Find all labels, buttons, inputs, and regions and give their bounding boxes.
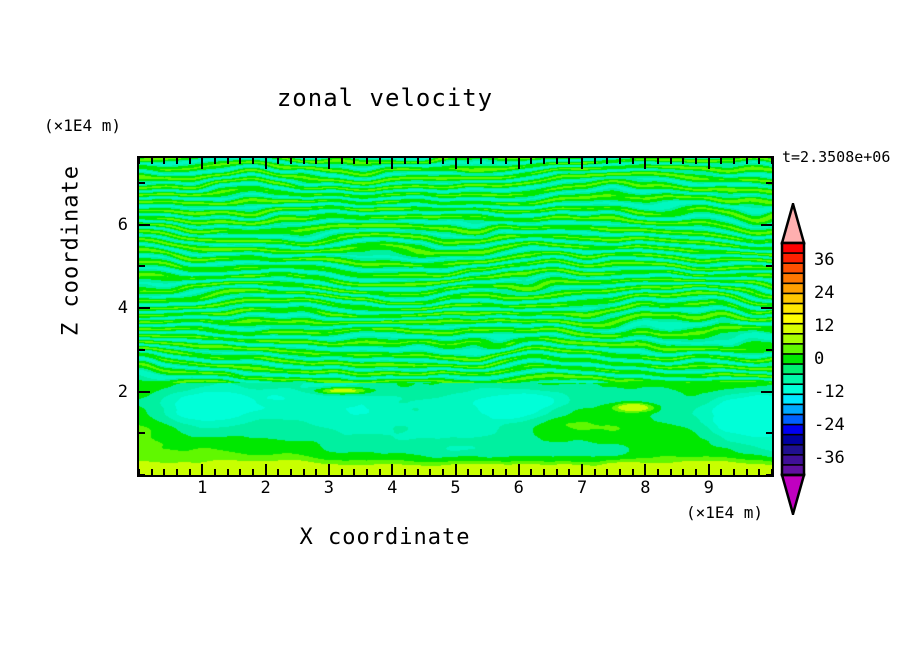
y-tick — [139, 349, 145, 351]
colorbar-tick-label: -12 — [814, 382, 845, 402]
colorbar-band — [782, 374, 804, 385]
colorbar-tick-label: 12 — [814, 316, 834, 336]
colorbar-band — [782, 404, 804, 415]
x-tick — [670, 469, 672, 475]
x-tick — [543, 469, 545, 475]
x-tick — [429, 469, 431, 475]
x-tick-top — [366, 158, 368, 164]
x-tick — [657, 469, 659, 475]
x-tick-top — [530, 158, 532, 164]
x-tick — [366, 469, 368, 475]
x-tick-top — [644, 158, 646, 169]
x-tick-top — [632, 158, 634, 164]
x-tick-top — [429, 158, 431, 164]
colorbar-band — [782, 324, 804, 335]
x-tick-top — [176, 158, 178, 164]
x-tick-top — [277, 158, 279, 164]
x-tick-label: 5 — [441, 478, 471, 498]
y-tick-right — [761, 307, 772, 309]
x-tick-top — [455, 158, 457, 169]
x-tick — [695, 469, 697, 475]
colorbar-band — [782, 293, 804, 304]
y-tick-label: 4 — [98, 298, 128, 318]
x-tick — [632, 469, 634, 475]
x-tick — [290, 469, 292, 475]
colorbar-band — [782, 344, 804, 355]
x-tick — [227, 469, 229, 475]
x-tick — [758, 469, 760, 475]
colorbar[interactable] — [777, 203, 811, 515]
x-tick-top — [189, 158, 191, 164]
y-tick-right — [761, 391, 772, 393]
x-tick — [315, 469, 317, 475]
x-tick-top — [720, 158, 722, 164]
colorbar-over-arrow — [782, 204, 804, 243]
y-tick-right — [766, 182, 772, 184]
x-tick — [644, 464, 646, 475]
x-tick-top — [417, 158, 419, 164]
x-tick — [252, 469, 254, 475]
x-tick-top — [227, 158, 229, 164]
colorbar-band — [782, 253, 804, 264]
x-tick — [594, 469, 596, 475]
colorbar-band — [782, 394, 804, 405]
x-tick-top — [214, 158, 216, 164]
x-tick-top — [670, 158, 672, 164]
x-tick — [581, 464, 583, 475]
x-tick — [467, 469, 469, 475]
x-axis-unit-label: (×1E4 m) — [686, 503, 763, 522]
x-tick — [353, 469, 355, 475]
x-tick-top — [708, 158, 710, 169]
colorbar-band — [782, 314, 804, 325]
x-tick — [708, 464, 710, 475]
x-tick-top — [138, 158, 140, 164]
colorbar-band — [782, 445, 804, 456]
x-tick-top — [328, 158, 330, 169]
page-title: zonal velocity — [0, 84, 770, 112]
x-tick — [455, 464, 457, 475]
x-tick — [404, 469, 406, 475]
x-tick — [606, 469, 608, 475]
x-tick — [176, 469, 178, 475]
x-tick — [682, 469, 684, 475]
x-tick-top — [303, 158, 305, 164]
x-axis-title: X coordinate — [0, 525, 770, 550]
y-tick-right — [766, 265, 772, 267]
x-tick — [341, 469, 343, 475]
x-tick-label: 4 — [377, 478, 407, 498]
x-tick-top — [505, 158, 507, 164]
x-tick-top — [594, 158, 596, 164]
x-tick — [189, 469, 191, 475]
figure-root: zonal velocity (×1E4 m) t=2.3508e+06 123… — [0, 0, 904, 654]
y-tick — [139, 432, 145, 434]
colorbar-band — [782, 243, 804, 254]
x-tick-top — [239, 158, 241, 164]
x-tick-top — [568, 158, 570, 164]
x-tick-top — [581, 158, 583, 169]
y-tick — [139, 182, 145, 184]
x-tick — [480, 469, 482, 475]
y-tick-right — [761, 224, 772, 226]
x-tick — [379, 469, 381, 475]
x-tick — [277, 469, 279, 475]
colorbar-tick-label: 0 — [814, 349, 824, 369]
x-tick-label: 8 — [630, 478, 660, 498]
x-tick-top — [467, 158, 469, 164]
x-tick-label: 7 — [567, 478, 597, 498]
x-tick-top — [543, 158, 545, 164]
x-tick-top — [619, 158, 621, 164]
colorbar-under-arrow — [782, 475, 804, 514]
x-tick — [417, 469, 419, 475]
x-tick — [151, 469, 153, 475]
x-tick — [265, 464, 267, 475]
x-tick-top — [746, 158, 748, 164]
x-tick-top — [695, 158, 697, 164]
y-axis-unit-label: (×1E4 m) — [44, 116, 121, 135]
y-tick — [139, 224, 150, 226]
x-tick-top — [771, 158, 773, 164]
x-tick — [163, 469, 165, 475]
colorbar-band — [782, 334, 804, 345]
colorbar-tick-label: 36 — [814, 250, 834, 270]
y-tick — [139, 474, 145, 476]
x-tick-top — [733, 158, 735, 164]
colorbar-band — [782, 414, 804, 425]
x-tick — [746, 469, 748, 475]
colorbar-band — [782, 283, 804, 294]
x-tick — [619, 469, 621, 475]
x-tick — [733, 469, 735, 475]
x-tick-label: 6 — [504, 478, 534, 498]
x-tick-top — [163, 158, 165, 164]
colorbar-band — [782, 263, 804, 274]
y-tick — [139, 391, 150, 393]
x-tick-top — [480, 158, 482, 164]
colorbar-band — [782, 455, 804, 466]
x-tick — [214, 469, 216, 475]
colorbar-band — [782, 435, 804, 446]
x-tick — [303, 469, 305, 475]
colorbar-band — [782, 354, 804, 365]
x-tick-top — [290, 158, 292, 164]
x-tick-top — [404, 158, 406, 164]
x-tick-top — [682, 158, 684, 164]
x-tick-label: 3 — [314, 478, 344, 498]
y-tick-label: 2 — [98, 382, 128, 402]
x-tick — [568, 469, 570, 475]
y-axis-title: Z coordinate — [59, 136, 84, 366]
x-tick-top — [353, 158, 355, 164]
x-tick-top — [201, 158, 203, 169]
y-tick-label: 6 — [98, 215, 128, 235]
x-tick — [492, 469, 494, 475]
x-tick — [328, 464, 330, 475]
x-tick-top — [442, 158, 444, 164]
x-tick-top — [341, 158, 343, 164]
x-tick-top — [252, 158, 254, 164]
x-tick — [391, 464, 393, 475]
colorbar-tick-label: -24 — [814, 415, 845, 435]
colorbar-band — [782, 304, 804, 315]
y-tick-right — [766, 474, 772, 476]
x-tick — [556, 469, 558, 475]
colorbar-band — [782, 364, 804, 375]
y-tick-right — [766, 432, 772, 434]
colorbar-band — [782, 273, 804, 284]
y-tick-right — [766, 349, 772, 351]
x-tick-top — [492, 158, 494, 164]
colorbar-band — [782, 425, 804, 436]
x-tick-label: 2 — [251, 478, 281, 498]
x-tick-top — [391, 158, 393, 169]
x-tick-label: 1 — [187, 478, 217, 498]
colorbar-band — [782, 384, 804, 395]
x-tick — [720, 469, 722, 475]
x-tick-top — [315, 158, 317, 164]
x-tick-top — [265, 158, 267, 169]
x-tick-top — [379, 158, 381, 164]
colorbar-tick-label: 24 — [814, 283, 834, 303]
x-tick-top — [518, 158, 520, 169]
plot-area[interactable] — [137, 156, 774, 477]
x-tick — [518, 464, 520, 475]
y-tick — [139, 307, 150, 309]
x-tick-top — [657, 158, 659, 164]
x-tick — [530, 469, 532, 475]
x-tick — [442, 469, 444, 475]
x-tick — [239, 469, 241, 475]
x-tick-label: 9 — [694, 478, 724, 498]
colorbar-tick-label: -36 — [814, 448, 845, 468]
x-tick-top — [758, 158, 760, 164]
x-tick-top — [556, 158, 558, 164]
timestamp-label: t=2.3508e+06 — [782, 148, 890, 166]
x-tick-top — [151, 158, 153, 164]
y-tick — [139, 265, 145, 267]
x-tick — [505, 469, 507, 475]
contour-field-canvas — [139, 158, 772, 475]
x-tick — [201, 464, 203, 475]
x-tick-top — [606, 158, 608, 164]
